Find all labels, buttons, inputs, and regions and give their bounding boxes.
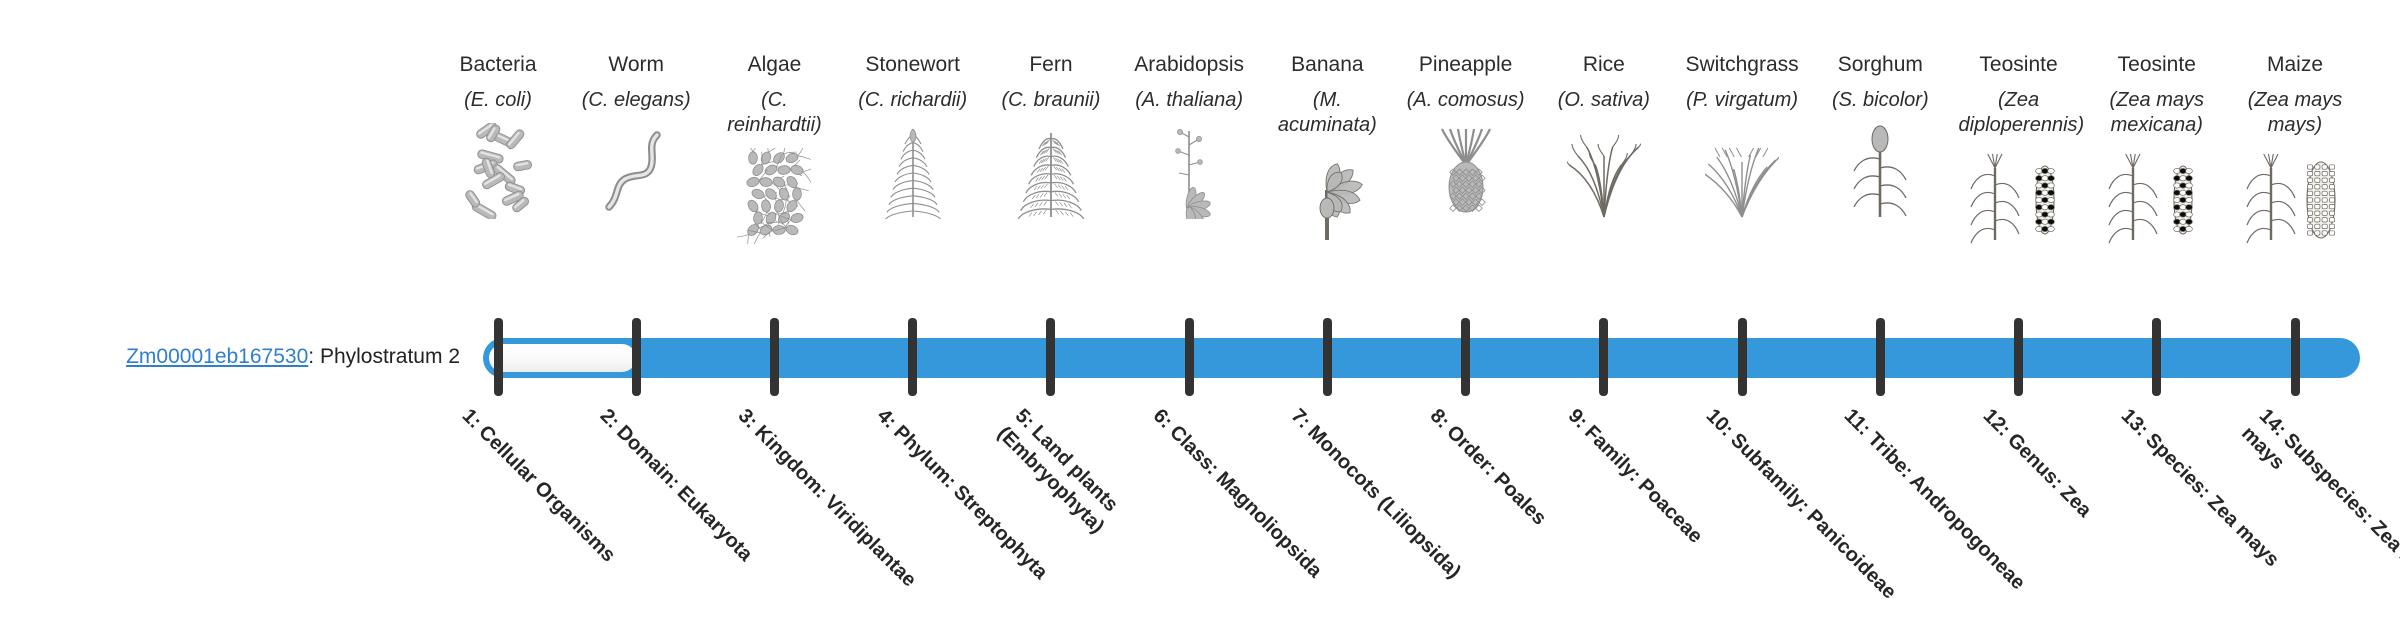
species-common-name: Teosinte xyxy=(2097,52,2217,78)
species-latin-name: (E. coli) xyxy=(438,88,558,113)
bacteria-illustration xyxy=(438,119,558,219)
phylostratum-value: Phylostratum 2 xyxy=(320,345,460,368)
phylostratum-tick-6 xyxy=(1185,318,1194,396)
rank-text: Cellular Organisms xyxy=(470,417,619,566)
species-common-name: Sorghum xyxy=(1820,52,1940,78)
species-column-fern-5: Fern(C. braunii) xyxy=(991,52,1111,219)
rank-label-14: 14: Subspecies: Zea mays mays xyxy=(2236,404,2400,623)
worm-illustration xyxy=(576,119,696,219)
rank-text: Family: Poaceae xyxy=(1576,417,1706,547)
species-column-teosinte-13: Teosinte(Zea mays mexicana) xyxy=(2097,52,2217,244)
progress-bar-fill xyxy=(483,338,2360,378)
gene-id-link[interactable]: Zm00001eb167530 xyxy=(126,345,308,368)
rank-text: Tribe: Andropogoneae xyxy=(1860,424,2030,594)
phylostratum-tick-9 xyxy=(1599,318,1608,396)
species-latin-name: (P. virgatum) xyxy=(1682,88,1802,113)
switchgrass-illustration xyxy=(1682,119,1802,219)
rice-illustration xyxy=(1544,119,1664,219)
species-common-name: Bacteria xyxy=(438,52,558,78)
species-latin-name: (C. reinhardtii) xyxy=(714,88,834,138)
species-common-name: Teosinte xyxy=(1959,52,2079,78)
species-common-name: Fern xyxy=(991,52,1111,78)
phylostratum-tick-12 xyxy=(2014,318,2023,396)
teosinte-illustration xyxy=(1959,144,2079,244)
species-column-sorghum-11: Sorghum(S. bicolor) xyxy=(1820,52,1940,219)
fern-illustration xyxy=(991,119,1111,219)
species-latin-name: (Zea mays mexicana) xyxy=(2097,88,2217,138)
species-common-name: Algae xyxy=(714,52,834,78)
phylostratum-tick-14 xyxy=(2291,318,2300,396)
species-column-teosinte-12: Teosinte(Zea diploperennis) xyxy=(1959,52,2079,244)
banana-illustration xyxy=(1267,144,1387,244)
species-column-rice-9: Rice(O. sativa) xyxy=(1544,52,1664,219)
teosinte-illustration xyxy=(2097,144,2217,244)
species-latin-name: (C. elegans) xyxy=(576,88,696,113)
phylostratum-progress-bar[interactable] xyxy=(483,338,2360,378)
species-common-name: Stonewort xyxy=(853,52,973,78)
species-column-arabidopsis-6: Arabidopsis(A. thaliana) xyxy=(1129,52,1249,219)
species-common-name: Worm xyxy=(576,52,696,78)
species-latin-name: (C. braunii) xyxy=(991,88,1111,113)
pineapple-illustration xyxy=(1406,119,1526,219)
rank-text: Land plants (Embryophyta) xyxy=(993,417,1122,537)
stonewort-illustration xyxy=(853,119,973,219)
species-latin-name: (Zea mays mays) xyxy=(2235,88,2355,138)
species-latin-name: (A. comosus) xyxy=(1406,88,1526,113)
species-latin-name: (Zea diploperennis) xyxy=(1959,88,2079,138)
species-latin-name: (C. richardii) xyxy=(853,88,973,113)
gene-label: Zm00001eb167530: Phylostratum 2 xyxy=(40,344,460,370)
species-common-name: Pineapple xyxy=(1406,52,1526,78)
phylostratum-tick-13 xyxy=(2152,318,2161,396)
species-latin-name: (M. acuminata) xyxy=(1267,88,1387,138)
phylostratum-tick-11 xyxy=(1876,318,1885,396)
phylostratum-tick-2 xyxy=(632,318,641,396)
phylostratum-tick-3 xyxy=(770,318,779,396)
progress-bar-empty-region xyxy=(489,344,636,372)
phylostratum-chart: Bacteria(E. coli)Worm(C. elegans) Algae(… xyxy=(0,0,2400,580)
species-common-name: Arabidopsis xyxy=(1129,52,1249,78)
arabidopsis-illustration xyxy=(1129,119,1249,219)
species-common-name: Maize xyxy=(2235,52,2355,78)
phylostratum-tick-8 xyxy=(1461,318,1470,396)
gene-separator: : xyxy=(308,345,320,368)
species-latin-name: (S. bicolor) xyxy=(1820,88,1940,113)
maize-illustration xyxy=(2235,144,2355,244)
species-header-row: Bacteria(E. coli)Worm(C. elegans) Algae(… xyxy=(0,0,2400,320)
species-column-algae-3: Algae(C. reinhardtii) xyxy=(714,52,834,244)
phylostratum-tick-5 xyxy=(1046,318,1055,396)
phylostratum-tick-4 xyxy=(908,318,917,396)
species-column-switchgrass-10: Switchgrass(P. virgatum) xyxy=(1682,52,1802,219)
species-column-worm-2: Worm(C. elegans) xyxy=(576,52,696,219)
phylostratum-tick-10 xyxy=(1738,318,1747,396)
species-latin-name: (O. sativa) xyxy=(1544,88,1664,113)
rank-text: Genus: Zea xyxy=(1999,425,2096,522)
species-column-banana-7: Banana(M. acuminata) xyxy=(1267,52,1387,244)
species-latin-name: (A. thaliana) xyxy=(1129,88,1249,113)
algae-illustration xyxy=(714,144,834,244)
species-column-stonewort-4: Stonewort(C. richardii) xyxy=(853,52,973,219)
phylostratum-tick-1 xyxy=(494,318,503,396)
phylostratum-tick-7 xyxy=(1323,318,1332,396)
species-column-maize-14: Maize(Zea mays mays) xyxy=(2235,52,2355,244)
species-column-bacteria-1: Bacteria(E. coli) xyxy=(438,52,558,219)
species-column-pineapple-8: Pineapple(A. comosus) xyxy=(1406,52,1526,219)
species-common-name: Rice xyxy=(1544,52,1664,78)
species-common-name: Banana xyxy=(1267,52,1387,78)
rank-text: Monocots (Liliopsida) xyxy=(1300,417,1466,583)
rank-text: Order: Poales xyxy=(1438,417,1550,529)
rank-text: Class: Magnoliopsida xyxy=(1161,417,1326,582)
sorghum-illustration xyxy=(1820,119,1940,219)
species-common-name: Switchgrass xyxy=(1682,52,1802,78)
rank-text: Subspecies: Zea mays mays xyxy=(2237,422,2400,596)
rank-text: Domain: Eukaryota xyxy=(609,417,757,565)
